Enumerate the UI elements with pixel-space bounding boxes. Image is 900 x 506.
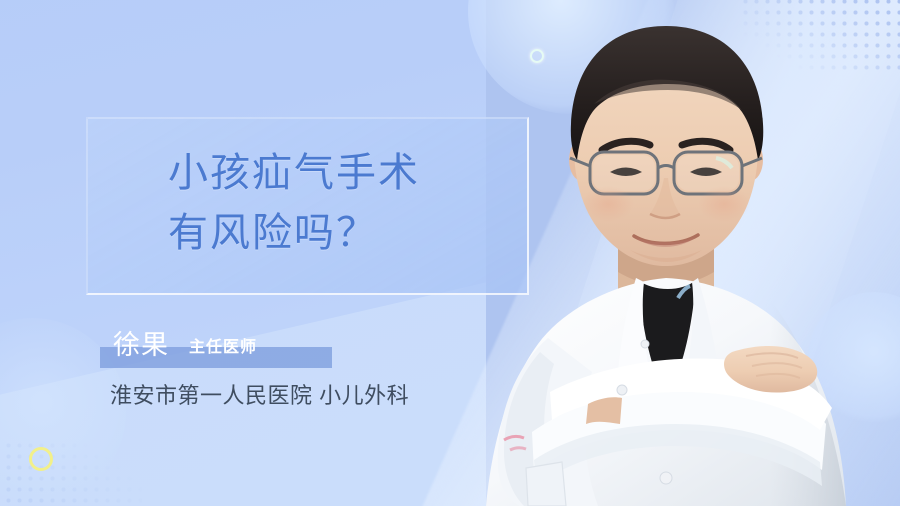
- halftone-dots-icon: [0, 440, 142, 506]
- doctor-hospital: 淮安市第一人民医院 小儿外科: [110, 381, 409, 411]
- doctor-name: 徐果: [113, 330, 169, 360]
- doctor-title: 主任医师: [189, 338, 257, 358]
- page-title: 小孩疝气手术 有风险吗？: [168, 143, 588, 263]
- doctor-identity: 徐果 主任医师: [113, 330, 257, 360]
- video-thumbnail-card: 小孩疝气手术 有风险吗？ 徐果 主任医师 淮安市第一人民医院 小儿外科: [0, 0, 900, 506]
- ring-yellow-icon: [29, 447, 53, 471]
